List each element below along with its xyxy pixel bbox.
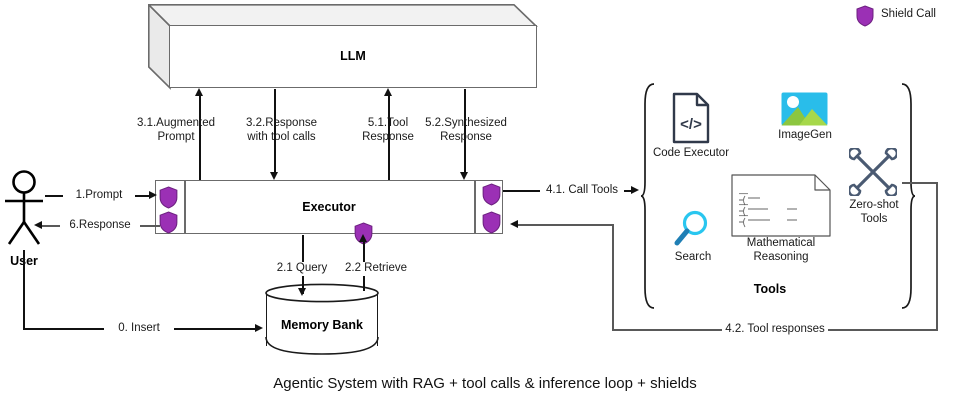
edge-label-synthesized-response: 5.2.Synthesized Response: [421, 117, 511, 144]
edge-label-insert: 0. Insert: [104, 322, 174, 336]
edge-label-call-tools: 4.1. Call Tools: [540, 184, 624, 198]
shield-icon-tool-call-out: [482, 183, 501, 206]
edge-synthesized-response-arrowhead: [460, 172, 468, 180]
edge-call-tools-arrowhead: [631, 186, 639, 194]
shield-icon-tool-response-in: [482, 211, 501, 234]
shield-icon-executor-out: [159, 211, 178, 234]
edge-tool-responses-into-executor: [518, 224, 614, 226]
executor-right-divider: [474, 181, 476, 233]
edge-label-retrieve: 2.2 Retrieve: [338, 262, 414, 276]
edge-augmented-prompt-arrowhead: [195, 88, 203, 96]
shield-icon-executor-in: [159, 186, 178, 209]
edge-insert-arrowhead: [255, 324, 263, 332]
edge-query-arrowhead: [298, 288, 306, 296]
legend-label: Shield Call: [881, 8, 936, 20]
crossed-wrenches-icon: [849, 148, 897, 196]
edge-label-response-tool-calls: 3.2.Response with tool calls: [228, 117, 335, 144]
tool-label-mathematical-reasoning: Mathematical Reasoning: [726, 236, 836, 264]
image-generation-icon: [781, 92, 828, 126]
edge-label-response: 6.Response: [60, 219, 140, 233]
tool-label-imagegen: ImageGen: [762, 128, 848, 142]
memory-bank-bottom-ellipse: [264, 336, 380, 358]
tool-label-code-executor: Code Executor: [645, 146, 737, 160]
edge-tool-responses-arrowhead: [510, 220, 518, 228]
edge-insert-vertical: [23, 250, 25, 329]
edge-tool-responses-left-vertical: [612, 224, 614, 330]
tool-label-search: Search: [653, 250, 733, 264]
edge-retrieve-arrowhead: [359, 234, 367, 242]
math-document-icon: [731, 174, 831, 237]
tools-right-brace: [900, 82, 916, 310]
edge-response-tool-calls-arrowhead: [270, 172, 278, 180]
edge-response-arrowhead: [34, 221, 42, 229]
edge-label-query: 2.1 Query: [268, 262, 336, 276]
executor-title: Executor: [184, 200, 474, 214]
shield-icon-legend: [856, 5, 874, 27]
user-actor-icon: [2, 170, 52, 250]
diagram-caption: Agentic System with RAG + tool calls & i…: [0, 375, 970, 392]
tools-left-brace: [640, 82, 656, 310]
svg-text:</>: </>: [680, 116, 702, 133]
edge-label-tool-responses: 4.2. Tool responses: [722, 323, 828, 337]
code-document-icon: </>: [671, 92, 711, 144]
edge-label-augmented-prompt: 3.1.Augmented Prompt: [136, 117, 216, 144]
edge-tool-responses-right-vertical: [936, 182, 938, 330]
tools-group-title: Tools: [710, 282, 830, 296]
edge-label-tool-response: 5.1.Tool Response: [348, 117, 428, 144]
tool-label-zero-shot-tools: Zero-shot Tools: [833, 198, 915, 226]
memory-bank-title: Memory Bank: [266, 318, 378, 332]
edge-tool-responses-top-stub: [902, 182, 938, 184]
edge-tool-response-arrowhead: [384, 88, 392, 96]
agentic-system-diagram: Shield Call LLM 3.1.Augmented Prompt 3.2…: [0, 0, 970, 411]
magnifier-icon: [673, 210, 709, 248]
llm-title: LLM: [169, 49, 537, 63]
edge-label-prompt: 1.Prompt: [63, 189, 135, 203]
edge-prompt-arrowhead: [149, 191, 157, 199]
